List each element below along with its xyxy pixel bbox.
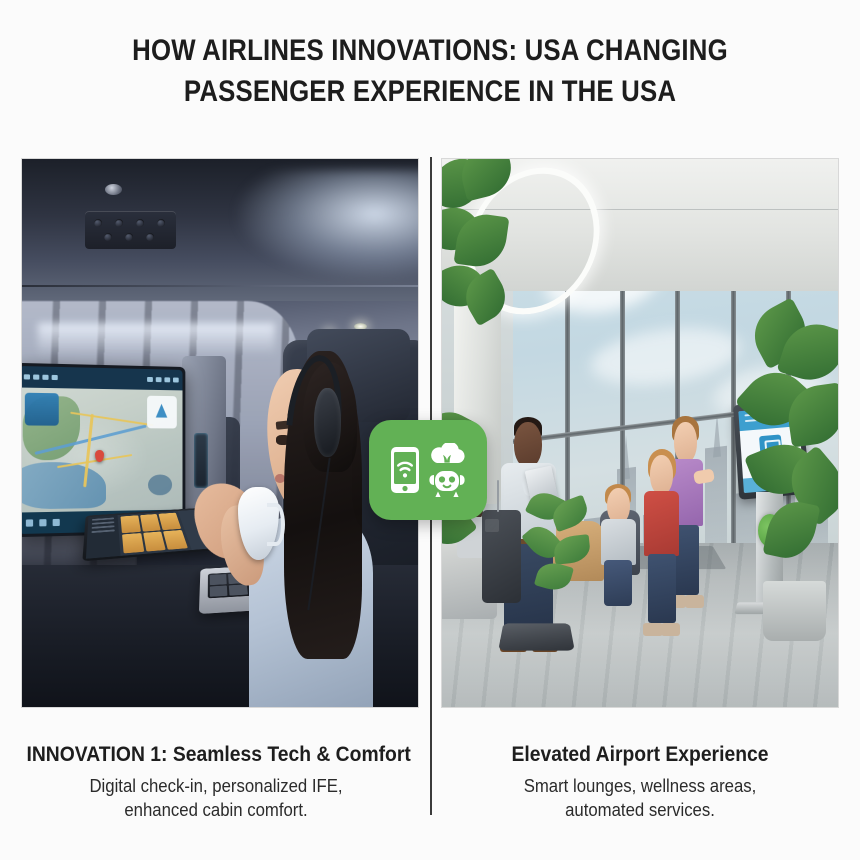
cabin-scene <box>22 159 418 707</box>
potted-palm <box>743 301 839 564</box>
child-standing <box>640 455 684 636</box>
caption-right-heading: Elevated Airport Experience <box>456 742 824 768</box>
suitcase-lying-flat <box>499 623 576 650</box>
child-shoe <box>685 595 704 608</box>
badge-icon-column <box>427 443 467 497</box>
ife-bezel <box>21 365 183 533</box>
plant-pot <box>763 581 826 641</box>
badge-icon-group <box>390 443 467 497</box>
caption-right-subtext: Smart lounges, wellness areas, automated… <box>454 774 826 822</box>
child-shirt <box>644 491 679 556</box>
child-shirt <box>601 519 636 565</box>
map-info-card[interactable] <box>25 392 59 424</box>
panel-left-image <box>21 158 419 708</box>
map-road <box>71 412 155 427</box>
child-legs <box>604 560 632 606</box>
traveler-head <box>514 422 542 468</box>
map-location-pin-icon <box>95 449 104 461</box>
child-shoe <box>661 623 680 636</box>
caption-left-line-1: Digital check-in, personalized IFE, <box>24 774 407 798</box>
cabin-wall-highlight <box>38 323 276 356</box>
ife-top-toolbar[interactable] <box>21 365 183 390</box>
caption-right: Elevated Airport Experience Smart lounge… <box>440 742 840 822</box>
ceiling-glow <box>236 170 419 280</box>
overhead-bin-seam <box>22 285 418 287</box>
hanging-plant <box>441 158 533 367</box>
caption-right-line-1: Smart lounges, wellness areas, <box>454 774 826 798</box>
child-head <box>650 455 673 495</box>
title-line-2: PASSENGER EXPERIENCE IN THE USA <box>60 71 800 112</box>
lounge-photo <box>441 158 839 708</box>
passenger-figure <box>244 340 379 707</box>
child-shoe <box>643 623 662 636</box>
caption-left-subtext: Digital check-in, personalized IFE, enha… <box>24 774 407 822</box>
caption-right-line-2: automated services. <box>454 798 826 822</box>
caption-left-line-2: enhanced cabin comfort. <box>24 798 407 822</box>
crouching-child <box>596 488 640 609</box>
center-tech-badge <box>369 420 487 520</box>
cabin-photo <box>21 158 419 708</box>
lounge-scene <box>442 159 838 707</box>
robot-icon <box>427 469 467 497</box>
smartphone-wifi-icon <box>390 446 420 494</box>
ife-moving-map[interactable] <box>21 387 183 511</box>
indoor-shrub <box>525 488 596 609</box>
panel-right-image <box>441 158 839 708</box>
tablet-nav-panel[interactable] <box>86 515 121 559</box>
infographic-poster: HOW AIRLINES INNOVATIONS: USA CHANGING P… <box>0 0 860 860</box>
page-title: HOW AIRLINES INNOVATIONS: USA CHANGING P… <box>0 30 860 112</box>
map-compass-icon[interactable] <box>147 396 177 429</box>
ife-side-control[interactable] <box>194 433 207 488</box>
title-line-1: HOW AIRLINES INNOVATIONS: USA CHANGING <box>60 30 800 71</box>
map-zoom-control[interactable] <box>148 474 172 495</box>
caption-left: INNOVATION 1: Seamless Tech & Comfort Di… <box>10 742 422 822</box>
cloud-leaf-icon <box>428 443 466 465</box>
passenger-service-unit <box>85 211 176 249</box>
caption-left-heading: INNOVATION 1: Seamless Tech & Comfort <box>26 742 405 768</box>
child-legs <box>648 554 676 623</box>
map-water-area <box>21 462 106 510</box>
headphones-earcup <box>314 388 341 458</box>
